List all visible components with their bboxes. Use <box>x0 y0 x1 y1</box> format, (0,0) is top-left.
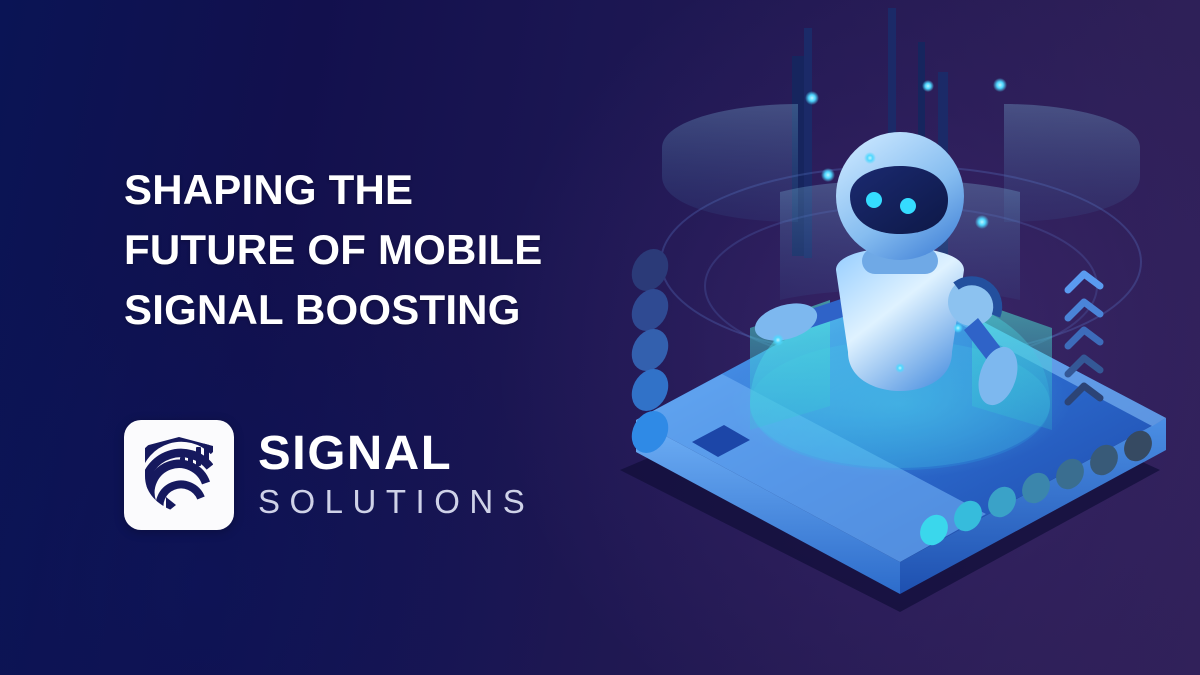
arrow-icon <box>1068 358 1100 374</box>
headline-line-3: SIGNAL BOOSTING <box>124 280 594 340</box>
brand-logo[interactable]: SIGNAL SOLUTIONS <box>124 420 534 530</box>
accent-dot <box>625 323 676 378</box>
logo-wordmark: SIGNAL <box>258 429 540 479</box>
logo-subwordmark: SOLUTIONS <box>258 482 534 522</box>
holo-panel-right <box>1004 104 1140 222</box>
robot-eye-left <box>866 192 882 208</box>
spark <box>953 323 963 333</box>
headline-line-2: FUTURE OF MOBILE <box>124 220 594 280</box>
spark <box>922 80 934 92</box>
spark <box>975 215 989 229</box>
spark <box>821 168 835 182</box>
logo-badge <box>124 420 234 530</box>
spark <box>895 363 905 373</box>
page-title: SHAPING THE FUTURE OF MOBILE SIGNAL BOOS… <box>124 160 594 340</box>
headline-line-1: SHAPING THE <box>124 160 594 220</box>
left-dot-column <box>625 243 676 460</box>
promo-banner: SHAPING THE FUTURE OF MOBILE SIGNAL BOOS… <box>0 0 1200 675</box>
isometric-phone-robot-hologram-svg <box>600 0 1200 675</box>
robot-eye-right <box>900 198 916 214</box>
spark <box>805 91 819 105</box>
accent-dot <box>625 243 676 298</box>
arrow-icon <box>1068 330 1100 346</box>
spark <box>993 78 1007 92</box>
holo-panel-left <box>662 104 798 222</box>
spark <box>772 334 784 346</box>
hero-illustration <box>600 0 1200 675</box>
logo-wordmark-group: SIGNAL SOLUTIONS <box>258 429 534 522</box>
headline-block: SHAPING THE FUTURE OF MOBILE SIGNAL BOOS… <box>124 160 594 340</box>
spark <box>864 152 876 164</box>
robot-visor <box>850 166 948 234</box>
shield-wifi-signal-icon <box>140 435 218 515</box>
accent-dot <box>625 283 676 338</box>
